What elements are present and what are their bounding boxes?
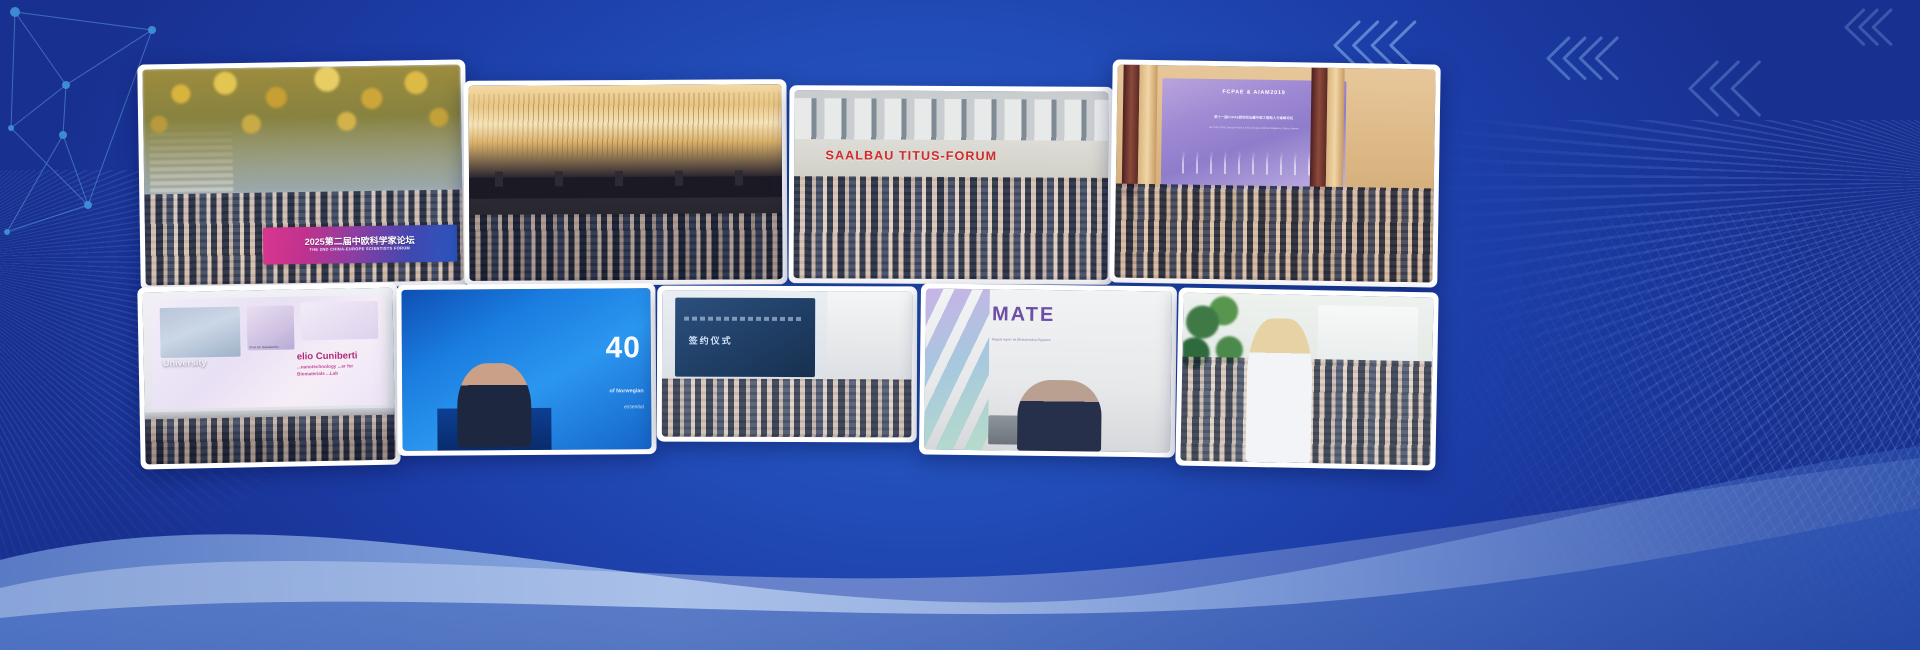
forum-banner-en: THE 2ND CHINA-EUROPE SCIENTISTS FORUM [309, 247, 410, 253]
stage-caption-line2: essential [624, 404, 644, 410]
photo-mate-podium-speaker[interactable]: MATE Magyar Agrár- és Élettudományi Egye… [919, 283, 1177, 457]
signing-screen-text: 签约仪式 [689, 333, 733, 346]
slide-body-text [163, 368, 234, 374]
slide-subtitle: ...nanotechnology ...er for Biomaterials… [297, 363, 380, 378]
mate-logo-text: MATE [992, 304, 1055, 328]
photo-fcpae-aiam-award-ceremony[interactable]: FCPAE & AIAM2019 第十一届FCPAE欧洲论坛暨中欧工智能人才高峰… [1109, 59, 1440, 287]
slide-speaker-name: elio Cuniberti [297, 350, 358, 362]
photo-blue-stage-keynote[interactable]: 40 of Norwegian essential [396, 283, 656, 456]
stage-number: 40 [605, 332, 641, 366]
photo-networking-reception[interactable] [1175, 288, 1438, 471]
photo-collage: 2025第二届中欧科学家论坛 THE 2ND CHINA-EUROPE SCIE… [0, 0, 1920, 650]
slide-university-label: University [163, 358, 207, 369]
photo-china-europe-forum-group-photo[interactable]: 2025第二届中欧科学家论坛 THE 2ND CHINA-EUROPE SCIE… [137, 59, 469, 290]
saalbau-sign-text: SAALBAU TITUS-FORUM [826, 149, 998, 164]
photo-cuniberti-lecture[interactable]: Prof. Dr. Gianaurelio University elio Cu… [137, 283, 400, 470]
photo-conference-hall-audience[interactable] [463, 79, 787, 286]
mate-logo-subtitle: Magyar Agrár- és Élettudományi Egyetem [992, 338, 1061, 344]
photo-saalbau-titus-forum-group[interactable]: SAALBAU TITUS-FORUM [788, 85, 1113, 285]
banner-stage: 2025第二届中欧科学家论坛 THE 2ND CHINA-EUROPE SCIE… [0, 0, 1920, 650]
photo-signing-ceremony-group[interactable]: 签约仪式 [657, 286, 918, 443]
stage-caption-line1: of Norwegian [610, 388, 644, 394]
slide-small-name: Prof. Dr. Gianaurelio [250, 345, 279, 350]
